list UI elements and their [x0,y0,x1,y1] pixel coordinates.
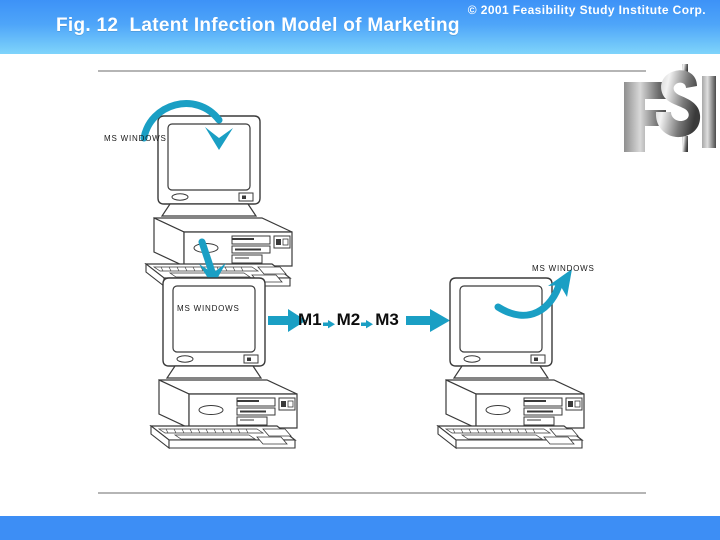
sequence-step-m2: M2 [337,310,361,330]
page-title: Fig. 12 Latent Infection Model of Market… [56,15,460,37]
sequence-step-m3: M3 [375,310,399,330]
diagram-canvas [0,54,720,516]
sequence-step-m1: M1 [298,310,322,330]
ms-windows-label-computer-1: MS WINDOWS [104,134,167,143]
footer-bar [0,516,720,540]
small-right-arrow-icon [361,315,374,327]
marketing-sequence: M1 M2 M3 [298,310,399,330]
ms-windows-screen-text-computer-2: MS WINDOWS [177,304,240,313]
computer-3 [438,278,584,448]
copyright-text: © 2001 Feasibility Study Institute Corp. [468,3,706,17]
arrow-sequence-to-computer3 [406,309,450,332]
small-right-arrow-icon [323,315,336,327]
ms-windows-label-computer-3: MS WINDOWS [532,264,595,273]
